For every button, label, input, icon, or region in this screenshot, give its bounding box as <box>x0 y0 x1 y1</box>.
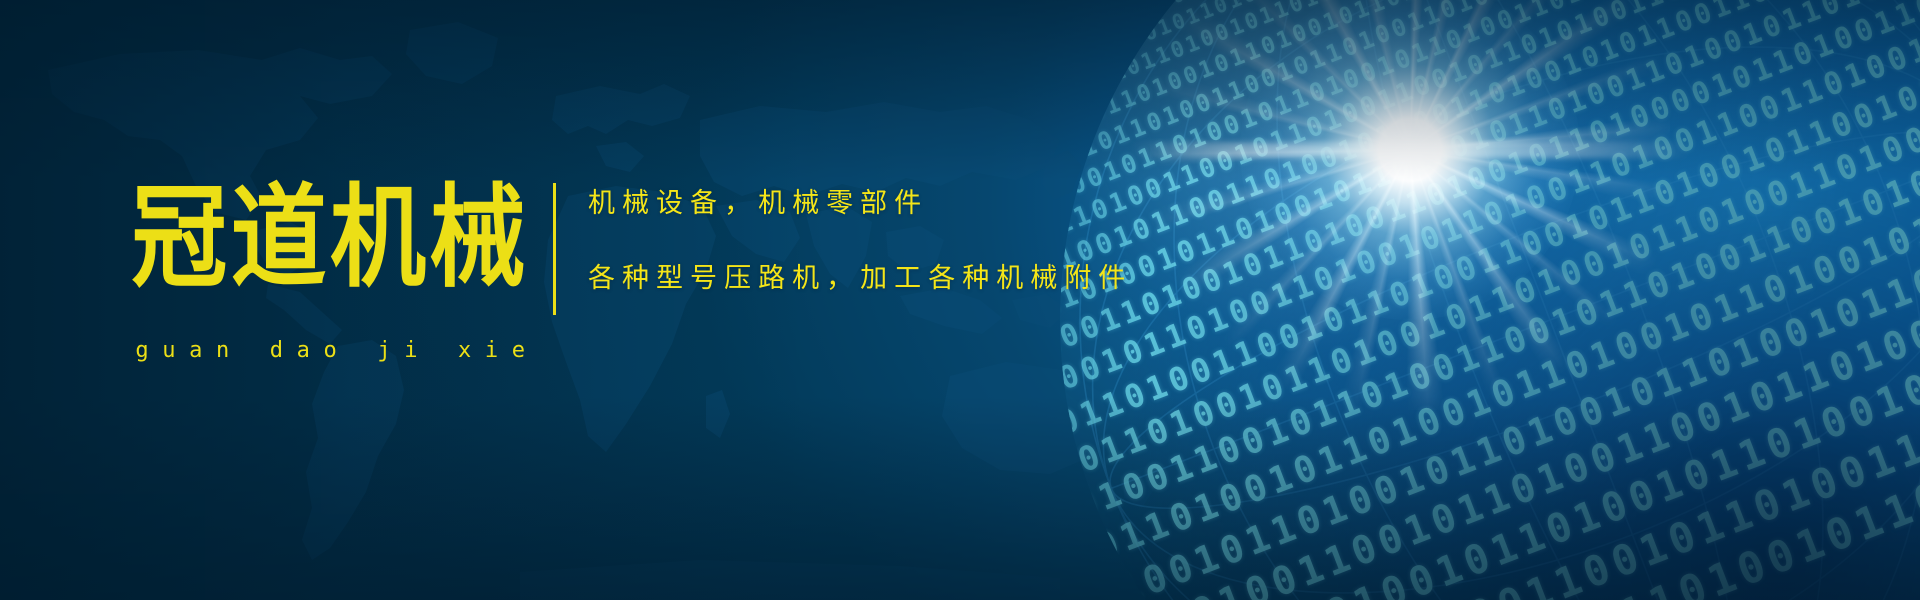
company-name-cn: 冠道机械 <box>120 182 540 293</box>
company-name-pinyin: guan dao ji xie <box>120 340 540 362</box>
tagline-line-2: 各种型号压路机，加工各种机械附件 <box>588 265 1308 292</box>
tagline-block: 机械设备，机械零部件 各种型号压路机，加工各种机械附件 <box>588 190 1308 292</box>
vertical-divider <box>553 183 556 315</box>
hero-banner: 1001011010010110100101101001011010010110… <box>0 0 1920 600</box>
company-logo: 冠道机械 guan dao ji xie <box>120 182 540 362</box>
banner-content: 冠道机械 guan dao ji xie 机械设备，机械零部件 各种型号压路机，… <box>0 0 1920 600</box>
tagline-line-1: 机械设备，机械零部件 <box>588 190 1308 217</box>
